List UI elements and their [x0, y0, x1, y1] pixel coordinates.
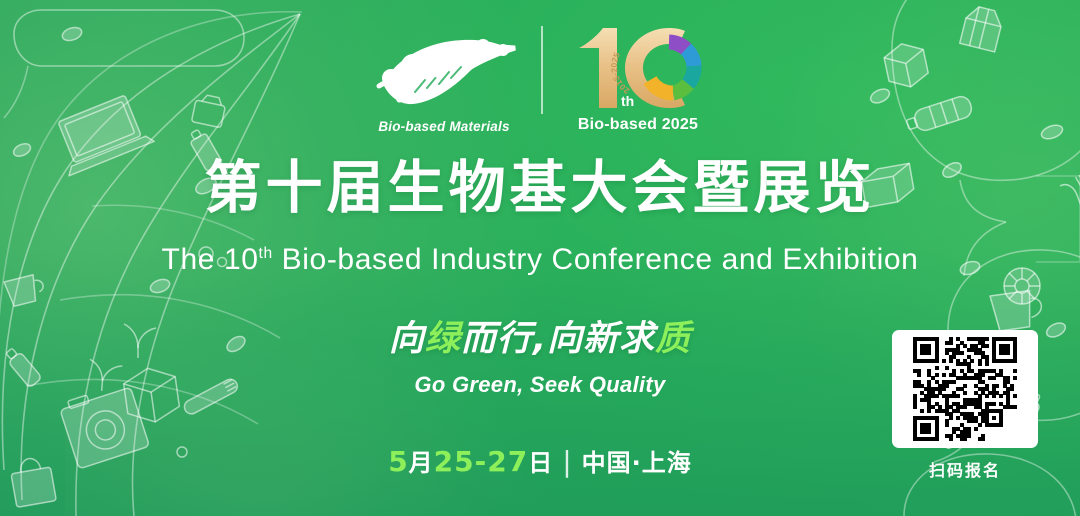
logo-divider	[541, 26, 543, 114]
qr-code[interactable]	[913, 337, 1017, 441]
title-en-suffix: Bio-based Industry Conference and Exhibi…	[273, 243, 919, 276]
ten-anniversary-icon: 2015-2025 th	[565, 22, 711, 114]
dateline-separator: |	[562, 448, 572, 476]
leaf-molecule-icon	[369, 22, 519, 114]
conference-banner: Bio-based Materials	[0, 0, 1080, 516]
qr-registration-block[interactable]: 扫码报名	[892, 330, 1038, 481]
qr-caption: 扫码报名	[892, 457, 1038, 481]
page-title-cn: 第十届生物基大会暨展览	[0, 160, 1080, 217]
logo-caption-anniversary: Bio-based 2025	[565, 116, 711, 134]
title-en-ordinal: th	[259, 245, 273, 262]
slogan-part-highlight: 质	[655, 319, 691, 359]
anniversary-ordinal: th	[621, 93, 634, 109]
logo-lockup: Bio-based Materials	[0, 22, 1080, 134]
event-location: 中国·上海	[582, 449, 692, 477]
bio-based-materials-logo: Bio-based Materials	[369, 22, 519, 134]
slogan-part: 而行,	[461, 319, 547, 359]
anniversary-logo: 2015-2025 th Bio-based 2025	[565, 22, 711, 134]
event-month-char: 月	[409, 449, 434, 477]
event-days: 25-27	[434, 445, 529, 478]
slogan-part-highlight: 绿	[425, 319, 461, 359]
page-title-en: The 10th Bio-based Industry Conference a…	[0, 243, 1080, 276]
event-month-number: 5	[388, 445, 408, 478]
event-day-char: 日	[528, 449, 553, 477]
title-en-prefix: The 10	[162, 243, 259, 276]
logo-caption-materials: Bio-based Materials	[369, 119, 519, 134]
slogan-part: 向新求	[547, 319, 655, 359]
slogan-part: 向	[389, 319, 425, 359]
qr-frame	[892, 330, 1038, 448]
